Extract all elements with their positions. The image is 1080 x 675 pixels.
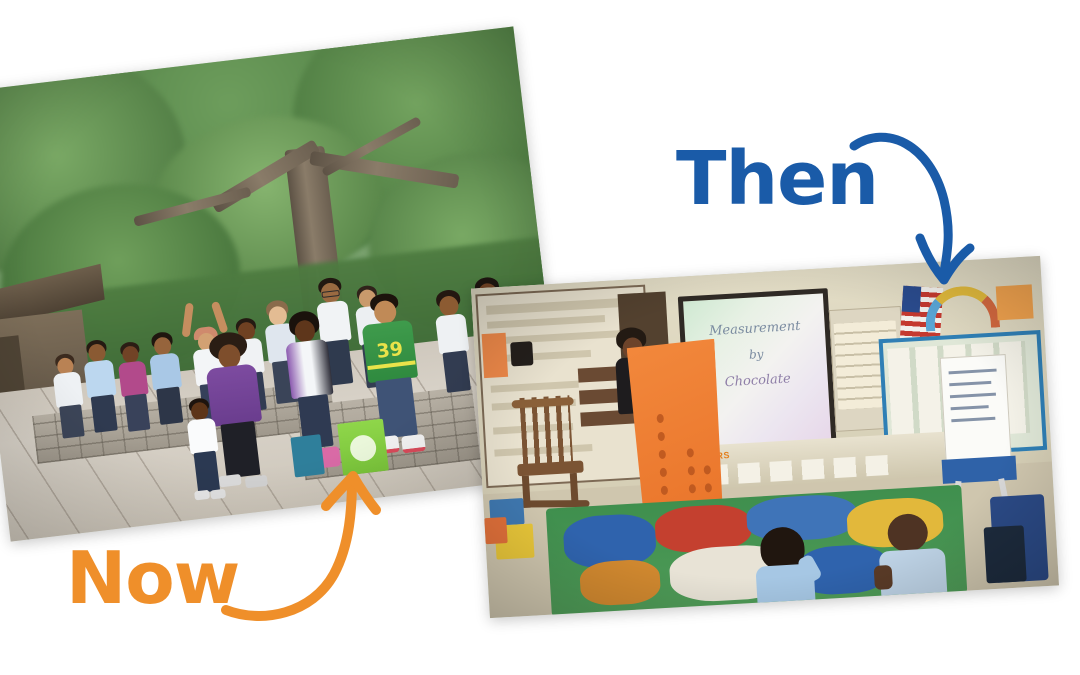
then-arrow-icon bbox=[852, 122, 982, 302]
student-figure bbox=[745, 525, 821, 605]
poster-canvas: 39 bbox=[0, 0, 1080, 675]
rug-pattern bbox=[579, 558, 661, 607]
photo-then-content: Measurement by Chocolate NUMBERS bbox=[471, 256, 1059, 618]
then-label: Then bbox=[676, 136, 878, 222]
now-label: Now bbox=[66, 536, 239, 620]
photo-then-classroom: Measurement by Chocolate NUMBERS bbox=[471, 256, 1059, 618]
now-arrow-icon bbox=[222, 462, 382, 622]
screen-line-1: Measurement bbox=[684, 317, 825, 340]
orange-sign bbox=[996, 284, 1034, 320]
orange-wall-poster bbox=[482, 333, 508, 378]
classroom-chair bbox=[984, 525, 1027, 583]
rocking-chair bbox=[511, 394, 595, 510]
storage-bin-orange bbox=[484, 517, 507, 544]
wall-phone bbox=[510, 341, 533, 366]
student-figure bbox=[871, 512, 954, 598]
